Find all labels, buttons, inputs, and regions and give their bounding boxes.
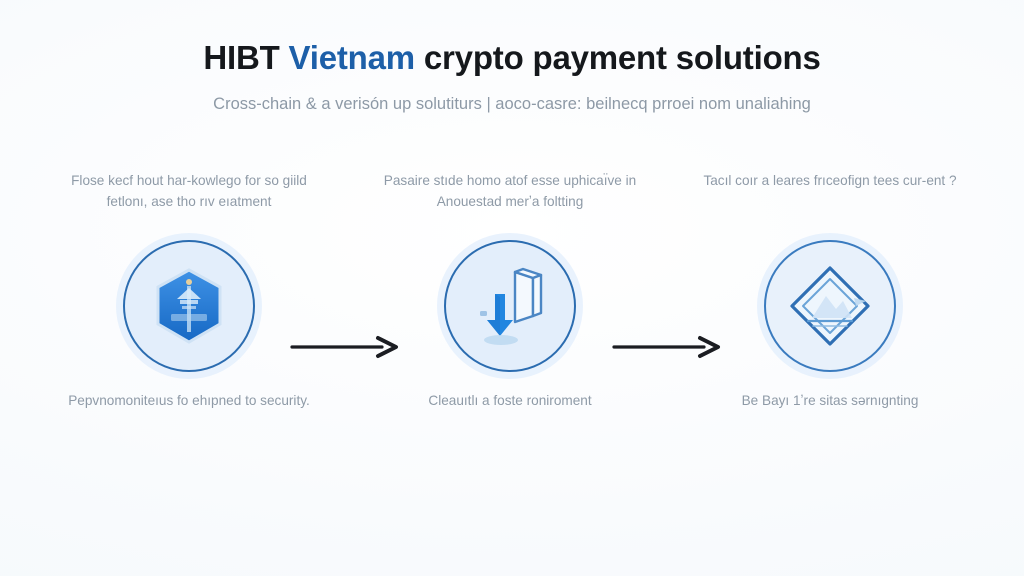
step-item-1: Flose kecf hout har-kowlego for so giild…	[54, 170, 324, 412]
step-item-3: Tacıl coır a leares frıceofign tees cur-…	[695, 170, 965, 412]
step-1-circle-wrap	[54, 236, 324, 376]
step-3-caption-top: Tacıl coır a leares frıceofign tees cur-…	[695, 170, 965, 236]
step-2-caption-bottom: Cleauıtlı a foste roniroment	[375, 390, 645, 412]
title-accent: Vietnam	[289, 39, 415, 76]
infographic-canvas: HIBT Vietnam crypto payment solutions Cr…	[0, 0, 1024, 576]
infographic-page: HIBT Vietnam crypto payment solutions Cr…	[0, 0, 1024, 576]
step-2-caption-top: Pasaire stıde homo atof esse uphicaı̈ve …	[375, 170, 645, 236]
step-3-circle	[764, 240, 896, 372]
step-2-circle	[444, 240, 576, 372]
flow-arrow-2-icon	[612, 334, 724, 360]
title-rest: crypto payment solutions	[424, 39, 821, 76]
step-1-circle	[123, 240, 255, 372]
flow-arrow-1-icon	[290, 334, 402, 360]
step-1-caption-top: Flose kecf hout har-kowlego for so giild…	[54, 170, 324, 236]
page-subtitle: Cross-chain & a verisón up solutiturs | …	[0, 94, 1024, 115]
title-brand: HIBT	[203, 39, 279, 76]
diamond-outline-icon	[786, 262, 874, 350]
step-2-circle-wrap	[375, 236, 645, 376]
steps-row: Flose kecf hout har-kowlego for so giild…	[0, 170, 1024, 470]
step-3-circle-wrap	[695, 236, 965, 376]
hexagon-shield-icon	[152, 266, 226, 346]
step-item-2: Pasaire stıde homo atof esse uphicaı̈ve …	[375, 170, 645, 412]
page-title: HIBT Vietnam crypto payment solutions	[0, 38, 1024, 78]
step-1-caption-bottom: Pepvnomoniteıus fo ehıpned to security.	[54, 390, 324, 412]
step-3-caption-bottom: Be Bayı 1ʼre sitas sərnıgnting	[695, 390, 965, 412]
box-download-arrow-icon	[467, 264, 553, 348]
header: HIBT Vietnam crypto payment solutions Cr…	[0, 38, 1024, 115]
